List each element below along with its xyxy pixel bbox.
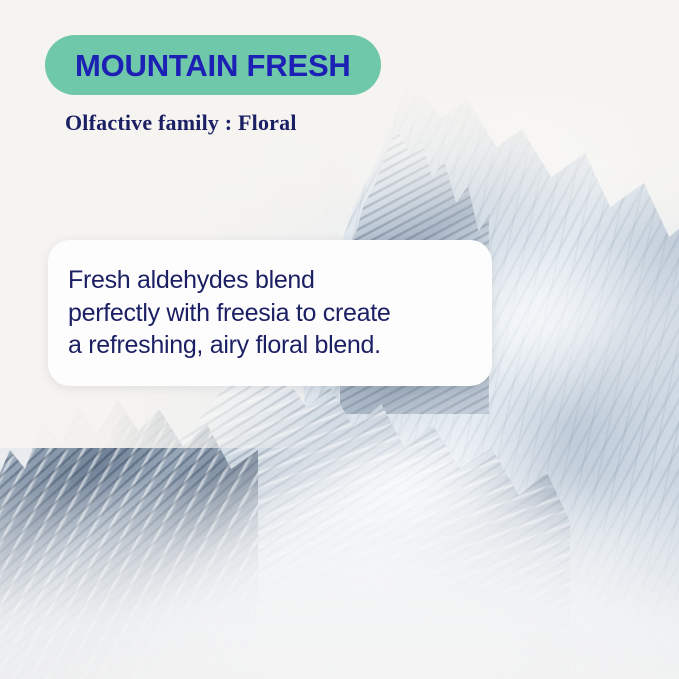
description-card: Fresh aldehydes blend perfectly with fre… [48, 240, 492, 386]
olfactive-family-label: Olfactive family : Floral [65, 110, 297, 136]
scent-name-badge: MOUNTAIN FRESH [45, 35, 381, 95]
description-line-1: Fresh aldehydes blend [68, 264, 391, 297]
fog-bank [0, 475, 679, 679]
description-line-3: a refreshing, airy floral blend. [68, 329, 391, 362]
description-line-2: perfectly with freesia to create [68, 297, 391, 330]
product-scent-poster: MOUNTAIN FRESH Olfactive family : Floral… [0, 0, 679, 679]
scent-name-label: MOUNTAIN FRESH [75, 50, 351, 81]
description-text: Fresh aldehydes blend perfectly with fre… [48, 264, 411, 362]
